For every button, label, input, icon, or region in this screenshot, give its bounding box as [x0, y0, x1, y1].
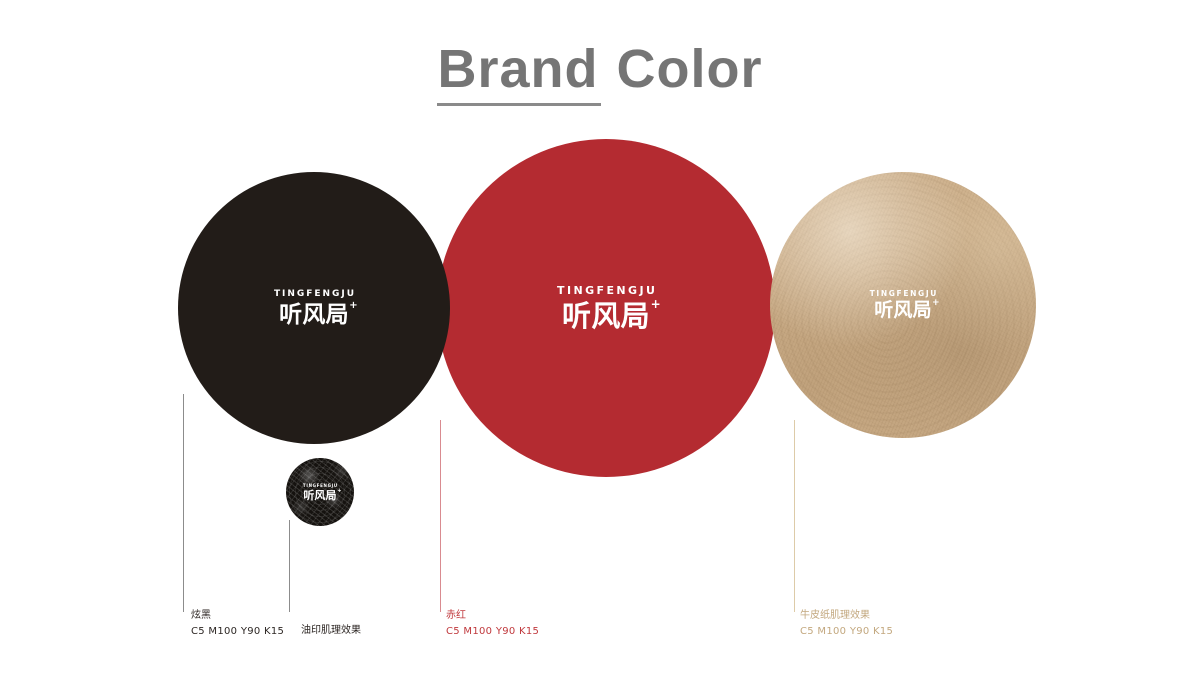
swatch-cmyk-code: C5 M100 Y90 K15	[446, 624, 539, 640]
logo-lockup: TINGFENGJU 听风局+	[272, 290, 356, 327]
swatch-caption-chi-hong: 赤红 C5 M100 Y90 K15	[446, 608, 539, 639]
logo-trademark-icon: +	[932, 299, 940, 308]
swatch-caption-kraft-paper-texture: 牛皮纸肌理效果 C5 M100 Y90 K15	[800, 608, 893, 639]
logo-pinyin-text: TINGFENGJU	[868, 290, 938, 298]
logo-trademark-icon: +	[651, 298, 661, 310]
logo-trademark-icon: +	[349, 301, 358, 311]
logo-lockup: TINGFENGJU 听风局+	[868, 290, 938, 321]
swatch-name: 赤红	[446, 608, 539, 624]
swatch-cmyk-code: C5 M100 Y90 K15	[191, 624, 284, 640]
leader-line-kraft-paper-texture	[794, 420, 795, 612]
logo-pinyin-text: TINGFENGJU	[302, 484, 338, 488]
swatch-cmyk-code: C5 M100 Y90 K15	[800, 624, 893, 640]
logo-pinyin-text: TINGFENGJU	[555, 285, 658, 296]
logo-pinyin-text: TINGFENGJU	[272, 290, 356, 299]
page-title-text: BrandColor	[437, 38, 762, 102]
swatch-circle-xuan-hei[interactable]: TINGFENGJU 听风局+	[178, 172, 450, 444]
logo-chinese-text: 听风局+	[562, 302, 650, 331]
swatch-name: 炫黑	[191, 608, 284, 624]
swatch-name: 牛皮纸肌理效果	[800, 608, 893, 624]
logo-trademark-icon: +	[337, 489, 341, 494]
swatch-circle-kraft-paper-texture[interactable]: TINGFENGJU 听风局+	[770, 172, 1036, 438]
swatch-caption-oil-print-texture: 油印肌理效果	[301, 623, 361, 639]
page-title: BrandColor	[0, 38, 1200, 102]
logo-chinese-text: 听风局+	[279, 304, 349, 327]
page-title-word-brand: Brand	[437, 38, 598, 102]
swatch-caption-xuan-hei: 炫黑 C5 M100 Y90 K15	[191, 608, 284, 639]
logo-lockup: TINGFENGJU 听风局+	[555, 285, 658, 331]
leader-line-chi-hong	[440, 420, 441, 612]
logo-lockup: TINGFENGJU 听风局+	[302, 484, 338, 501]
brand-color-slide: BrandColor TINGFENGJU 听风局+ TINGFENGJU 听风…	[0, 0, 1200, 689]
leader-line-xuan-hei	[183, 394, 184, 612]
swatch-name: 油印肌理效果	[301, 623, 361, 639]
leader-line-oil-print-texture	[289, 520, 290, 612]
page-title-word-color: Color	[617, 39, 763, 99]
swatch-circle-chi-hong[interactable]: TINGFENGJU 听风局+	[437, 139, 775, 477]
logo-chinese-text: 听风局+	[874, 301, 932, 320]
swatch-circle-oil-print-texture[interactable]: TINGFENGJU 听风局+	[286, 458, 354, 526]
logo-chinese-text: 听风局+	[303, 490, 336, 501]
